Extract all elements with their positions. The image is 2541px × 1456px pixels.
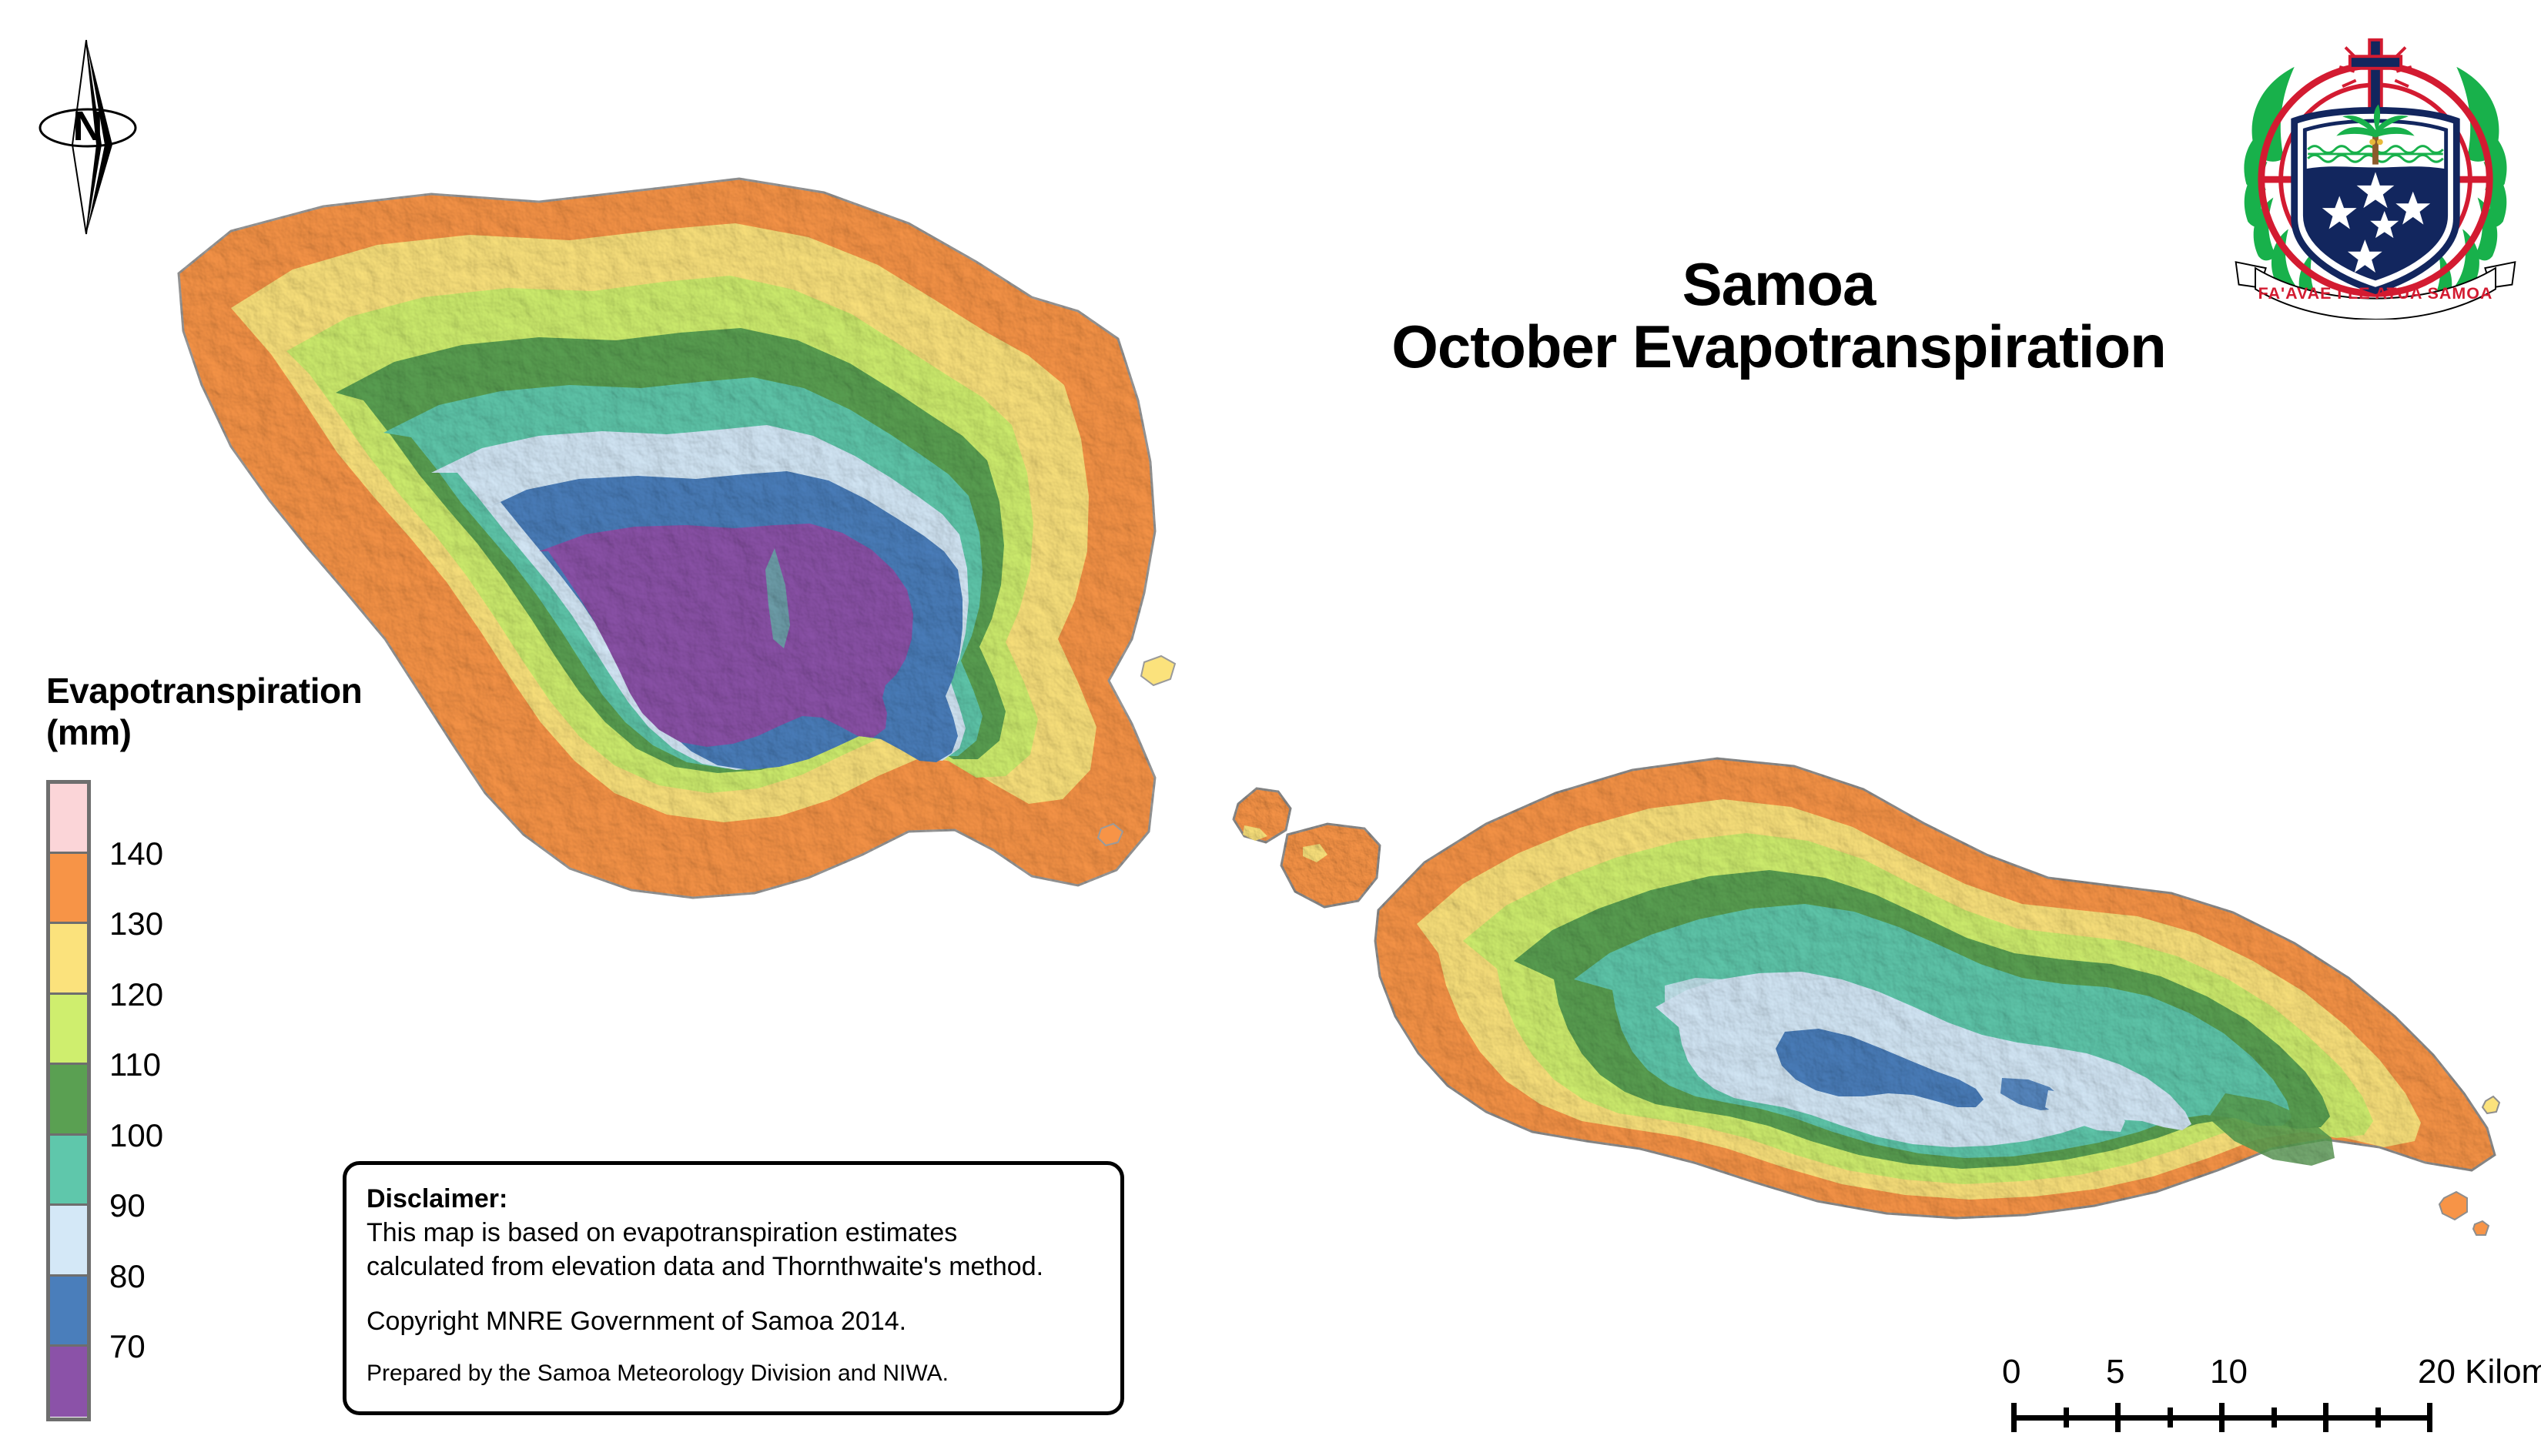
scale-bar-tick-12.5 (2271, 1407, 2277, 1428)
scale-bar-tick-20 (2427, 1403, 2432, 1432)
legend-swatch-6 (50, 1206, 87, 1276)
legend-swatch-8 (50, 1347, 87, 1417)
legend-label-110: 110 (109, 1049, 161, 1081)
scale-bar-labels: 051020 Kilometres (2011, 1355, 2504, 1395)
scale-bar-tick-2.5 (2064, 1407, 2069, 1428)
legend-title: Evapotranspiration (mm) (46, 670, 524, 754)
islet-savaii-east (1141, 656, 1175, 685)
map-title-line1: Samoa (1324, 254, 2233, 316)
legend-label-130: 130 (109, 908, 163, 940)
north-arrow-label: N (73, 103, 103, 149)
legend-label-70: 70 (109, 1330, 146, 1363)
disclaimer-line-2: calculated from elevation data and Thorn… (367, 1250, 1120, 1284)
scale-bar-tick-7.5 (2168, 1407, 2173, 1428)
cross-icon (2339, 40, 2412, 109)
disclaimer-heading: Disclaimer: (367, 1182, 1120, 1216)
island-apolima (1234, 788, 1291, 842)
legend-swatch-7 (50, 1277, 87, 1347)
scale-bar-tick-17.5 (2375, 1407, 2381, 1428)
legend-label-90: 90 (109, 1190, 146, 1222)
legend-swatch-2 (50, 924, 87, 994)
scale-bar-tick-15 (2323, 1403, 2328, 1432)
islet-upolu-east (2482, 1096, 2499, 1113)
north-arrow-icon: N (29, 29, 160, 245)
motto-text: FA'AVAE I LE ATUA SAMOA (2258, 284, 2493, 303)
disclaimer-copyright: Copyright MNRE Government of Samoa 2014. (367, 1304, 1120, 1338)
legend-color-ramp (46, 780, 91, 1421)
scale-bar-tick-0 (2011, 1403, 2017, 1432)
legend-swatch-5 (50, 1136, 87, 1206)
scale-bar-label-10: 10 (2210, 1355, 2248, 1389)
disclaimer-prepared-by: Prepared by the Samoa Meteorology Divisi… (367, 1358, 1120, 1388)
map-title-line2: October Evapotranspiration (1324, 316, 2233, 379)
island-manono (1281, 824, 1380, 907)
legend-swatch-3 (50, 995, 87, 1065)
scale-bar-label-20: 20 Kilometres (2418, 1355, 2541, 1389)
disclaimer-box: Disclaimer: This map is based on evapotr… (343, 1161, 1124, 1415)
legend-label-100: 100 (109, 1120, 163, 1152)
scale-bar-label-0: 0 (2002, 1355, 2020, 1389)
legend-swatch-0 (50, 784, 87, 854)
legend-label-140: 140 (109, 838, 163, 870)
legend-label-80: 80 (109, 1260, 146, 1293)
islet-upolu-south (2473, 1221, 2489, 1235)
samoa-coat-of-arms-icon: FA'AVAE I LE ATUA SAMOA (2225, 15, 2526, 320)
legend-label-120: 120 (109, 979, 163, 1011)
scale-bar: 051020 Kilometres (2011, 1355, 2504, 1440)
page-title: Samoa October Evapotranspiration (1324, 254, 2233, 378)
scale-bar-tick-5 (2115, 1403, 2121, 1432)
legend-swatch-1 (50, 854, 87, 924)
scale-bar-tick-10 (2219, 1403, 2225, 1432)
island-upolu (1375, 758, 2495, 1218)
disclaimer-line-1: This map is based on evapotranspiration … (367, 1216, 1120, 1250)
legend-swatch-4 (50, 1065, 87, 1135)
islet-savaii-southeast (1098, 824, 1123, 845)
scale-bar-label-5: 5 (2106, 1355, 2124, 1389)
islet-upolu-southeast (2439, 1192, 2467, 1220)
